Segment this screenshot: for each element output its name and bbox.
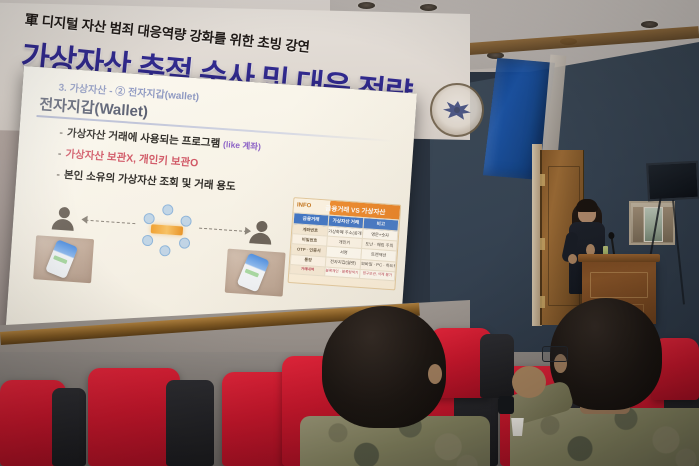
bullet-text: 가상자산 보관X, 개인키 보관O: [65, 148, 199, 169]
wristwatch: [498, 396, 514, 414]
person-head: [58, 207, 70, 219]
podium-top: [578, 254, 660, 262]
eyeglasses-icon: [542, 346, 568, 362]
lecture-hall-photo: 軍 디지털 자산 범죄 대응역량 강화를 위한 초빙 강연 가상자산 추적 수사…: [0, 0, 699, 466]
ear: [428, 364, 442, 384]
door-hinge-icon: [540, 238, 545, 250]
table-cell: 영구보관, 삭제 불가: [360, 269, 396, 281]
table-cell: 블록체인 · 블록탐색기 기록: [325, 267, 361, 279]
bullet-note: (like 계좌): [223, 139, 261, 152]
speaker-hair-front: [576, 199, 598, 212]
network-node: [180, 215, 192, 227]
bullet-text: 가상자산 거래에 사용되는 프로그램: [67, 127, 221, 150]
auditorium-seat[interactable]: [0, 380, 86, 466]
audience-member: [300, 306, 500, 466]
blockchain-network-icon: [139, 203, 195, 259]
network-node: [162, 204, 174, 216]
wallet-transaction-diagram: [33, 189, 289, 302]
wall-mounted-monitor: [646, 161, 699, 202]
bullet-dash: -: [56, 169, 60, 181]
hair: [322, 306, 446, 428]
audience-member: [520, 300, 699, 466]
hand: [512, 366, 546, 398]
downlight-icon: [641, 21, 658, 28]
network-node: [159, 245, 171, 257]
person-icon: [248, 220, 274, 246]
flow-arrow-left: [85, 220, 135, 224]
person-head: [256, 221, 268, 233]
wallet-phone-photo: [225, 249, 286, 297]
booth-shutter-left: [633, 207, 643, 242]
booth-shutter-right: [663, 207, 673, 242]
network-node: [143, 213, 155, 225]
info-comparison-box: INFO 금융거래 VS 가상자산 금융거래 가상자산 거래 비고: [288, 197, 402, 290]
smartphone-icon: [237, 253, 270, 293]
person-icon: [51, 206, 77, 232]
blockchain-core: [151, 224, 184, 235]
table-cell: 거래내역: [290, 264, 326, 276]
arrow-head-left-icon: [81, 215, 88, 223]
seat-frame: [52, 388, 86, 466]
person-body: [249, 232, 272, 245]
speaker-hand: [568, 254, 577, 264]
bullet-dash: -: [59, 127, 63, 139]
seat-frame: [166, 380, 214, 466]
wallet-phone-photo: [33, 235, 94, 283]
person-body: [52, 218, 75, 231]
downlight-icon: [420, 4, 437, 11]
auditorium-seat[interactable]: [88, 368, 214, 466]
arrow-head-right-icon: [245, 227, 252, 235]
smartphone-icon: [45, 239, 78, 279]
bullet-text: 본인 소유의 가상자산 조회 및 거래 용도: [64, 169, 236, 193]
info-badge: INFO: [294, 202, 312, 209]
network-node: [142, 235, 154, 247]
downlight-icon: [358, 2, 375, 9]
comparison-table: 금융거래 가상자산 거래 비고 계좌번호 가상화폐 주소(공개키) 영문+숫자: [289, 212, 399, 281]
podium-inlay: [590, 272, 648, 298]
flow-arrow-right: [199, 228, 247, 232]
bullet-dash: -: [58, 148, 62, 160]
network-node: [179, 237, 191, 249]
door-hinge-icon: [540, 174, 545, 186]
